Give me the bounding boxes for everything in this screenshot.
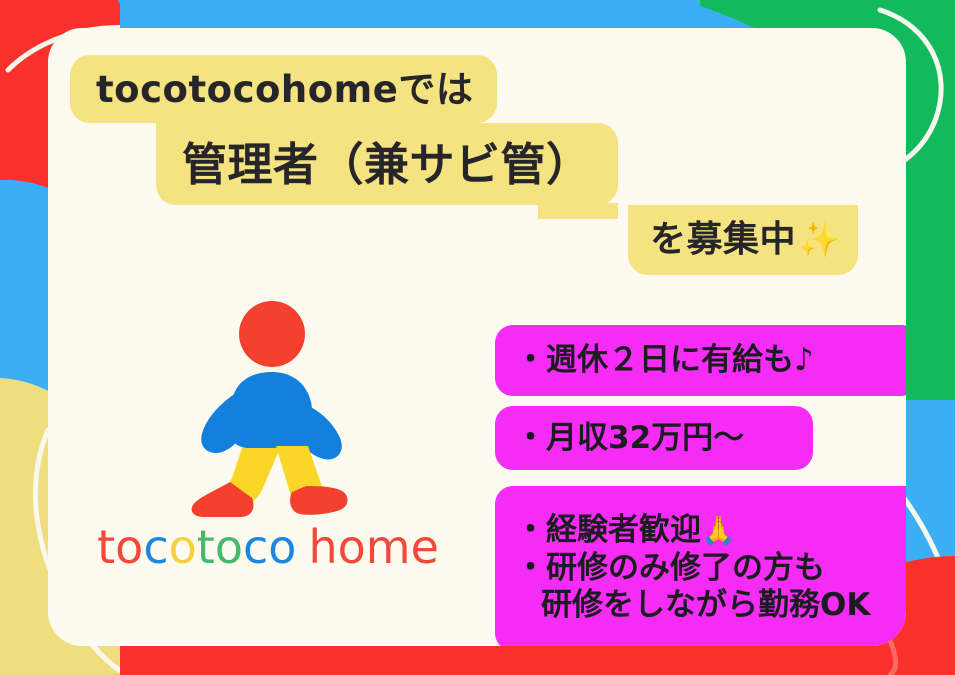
logo-wordmark: tocotoco home <box>97 524 439 570</box>
benefit-text-2: ・月収32万円〜 <box>515 421 799 455</box>
headline-row-3: を募集中 ✨ <box>628 205 858 275</box>
benefit-box-3-line-2: ・研修のみ修了の方も <box>515 550 906 588</box>
logo-letter: t <box>97 524 115 570</box>
sparkles-icon: ✨ <box>798 223 840 257</box>
headline-row-1: tocotocohomeでは <box>70 55 497 123</box>
headline-line-3: を募集中 <box>650 222 796 258</box>
logo-letter: h <box>308 524 337 570</box>
walking-person-icon <box>184 296 352 518</box>
logo-letter: e <box>411 524 439 570</box>
benefit-box-1: ・週休２日に有給も♪ <box>495 325 906 396</box>
logo-letter: m <box>366 524 411 570</box>
logo-letter: o <box>169 524 197 570</box>
headline-group: tocotocohomeでは 管理者（兼サビ管） を募集中 ✨ <box>48 28 906 278</box>
logo-letter: o <box>338 524 366 570</box>
benefit-box-3-line-1: ・経験者歓迎🙏 <box>515 512 906 550</box>
logo-letter-space <box>296 524 308 570</box>
folded-hands-icon: 🙏 <box>701 514 736 547</box>
benefit-text-1: ・週休２日に有給も♪ <box>515 343 905 377</box>
benefit-box-2: ・月収32万円〜 <box>495 406 813 470</box>
poster-canvas: tocotocohomeでは 管理者（兼サビ管） を募集中 ✨ <box>0 0 955 675</box>
logo-letter: o <box>115 524 143 570</box>
benefit-box-3-line-3: 研修をしながら勤務OK <box>515 587 906 625</box>
content-card: tocotocohomeでは 管理者（兼サビ管） を募集中 ✨ <box>48 28 906 646</box>
brand-logo: tocotoco home <box>88 296 448 616</box>
logo-letter: o <box>215 524 243 570</box>
logo-letter: t <box>197 524 215 570</box>
benefit-box-3: ・経験者歓迎🙏 ・研修のみ修了の方も 研修をしながら勤務OK <box>495 486 906 646</box>
logo-letter: o <box>268 524 296 570</box>
headline-line-1: tocotocohomeでは <box>96 71 473 108</box>
logo-letter: c <box>243 524 268 570</box>
benefit-text-3a: ・経験者歓迎 <box>515 512 701 548</box>
headline-row-2: 管理者（兼サビ管） <box>156 123 618 205</box>
logo-letter: c <box>143 524 168 570</box>
headline-line-2: 管理者（兼サビ管） <box>182 142 592 187</box>
